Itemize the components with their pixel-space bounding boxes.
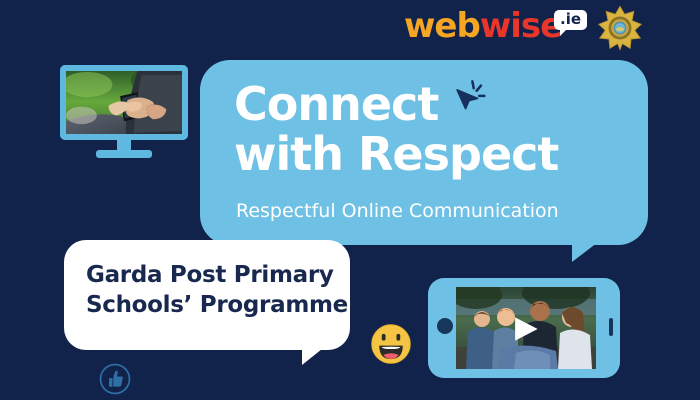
logo-domain-badge: .ie <box>554 10 587 30</box>
logo-word-web: web <box>404 6 480 46</box>
logo-word-wise: wise <box>480 6 562 46</box>
smartphone-icon <box>428 278 620 378</box>
click-cursor-icon <box>452 78 486 112</box>
main-speech-bubble: Connect with Respect Respectful Online C… <box>200 60 648 245</box>
phone-screen <box>456 287 596 369</box>
programme-title-line-2: Schools’ Programme <box>86 290 336 320</box>
webwise-logo[interactable]: webwise <box>404 6 562 46</box>
headline-line-2: with Respect <box>234 129 634 179</box>
phone-speaker <box>609 318 613 336</box>
poster-canvas: webwise .ie <box>0 0 700 400</box>
grinning-face-emoji <box>370 323 412 365</box>
headline-line-1: Connect <box>234 78 634 129</box>
brand-header: webwise .ie <box>404 4 654 52</box>
programme-title-line-1: Garda Post Primary <box>86 260 336 290</box>
phone-home-button <box>437 318 453 334</box>
subheadline: Respectful Online Communication <box>236 200 636 222</box>
garda-badge-icon <box>597 5 643 51</box>
monitor-stand-base <box>96 150 152 158</box>
play-icon[interactable] <box>510 315 542 343</box>
programme-title: Garda Post Primary Schools’ Programme <box>86 260 336 320</box>
secondary-speech-bubble: Garda Post Primary Schools’ Programme <box>64 240 350 350</box>
monitor-screen <box>60 65 188 140</box>
headline-text-1: Connect <box>234 77 438 131</box>
thumbs-up-icon[interactable] <box>98 362 132 396</box>
headline: Connect with Respect <box>234 78 634 179</box>
monitor-photo <box>66 71 182 139</box>
monitor-icon <box>60 65 188 160</box>
